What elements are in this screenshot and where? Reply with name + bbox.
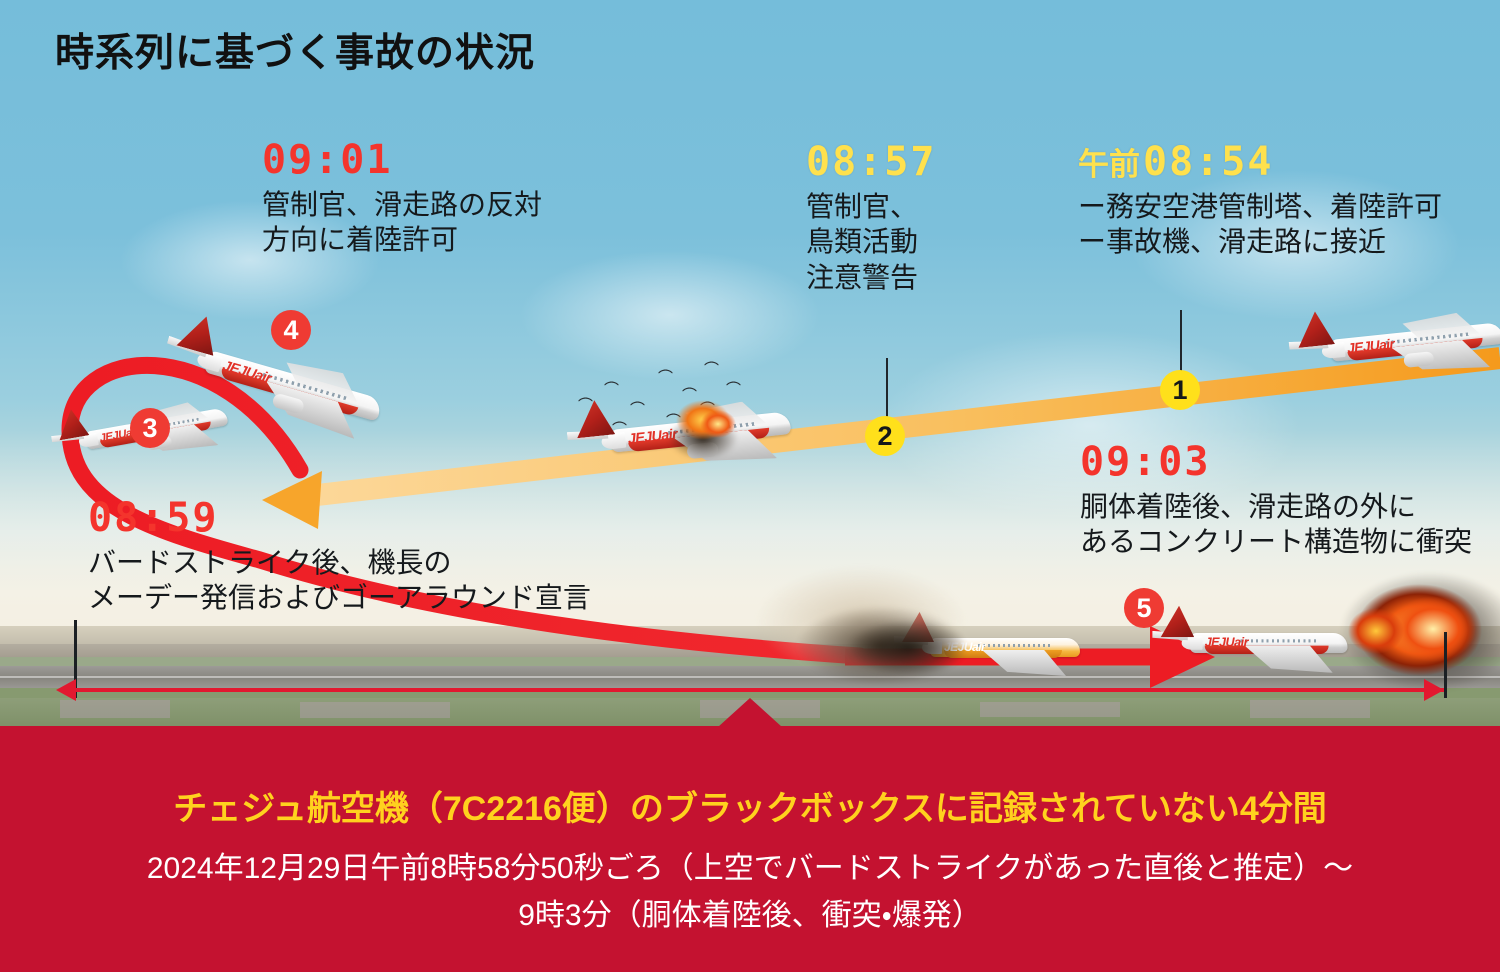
event-text-line: 管制官、 — [806, 189, 936, 224]
event-time-value-2: 08:57 — [806, 139, 936, 185]
event-text-5: 胴体着陸後、滑走路の外に あるコンクリート構造物に衝突 — [1080, 489, 1472, 560]
airline-logo: JEJUair — [1205, 635, 1248, 650]
event-time-value-3: 08:59 — [88, 495, 218, 541]
event-callout-4: 09:01 管制官、滑走路の反対 方向に着陸許可 — [262, 140, 542, 258]
event-text-line: ー務安空港管制塔、着陸許可 — [1078, 189, 1442, 224]
event-time-5: 09:03 — [1080, 442, 1472, 482]
event-text-line: メーデー発信およびゴーアラウンド宣言 — [88, 580, 591, 615]
measure-line — [74, 688, 1444, 692]
event-time-4: 09:01 — [262, 140, 542, 180]
event-time-1: 午前08:54 — [1078, 142, 1442, 182]
event-marker-1[interactable]: 1 — [1160, 370, 1200, 410]
measure-tick-right — [1444, 632, 1447, 698]
event-text-line: あるコンクリート構造物に衝突 — [1080, 524, 1472, 559]
event-text-line: 胴体着陸後、滑走路の外に — [1080, 489, 1472, 524]
infographic-root: 時系列に基づく事故の状況 JEJUair JEJUair JEJ — [0, 0, 1500, 972]
event-marker-5[interactable]: 5 — [1124, 588, 1164, 628]
event-time-prefix-1: 午前 — [1078, 147, 1140, 182]
event-time-2: 08:57 — [806, 142, 936, 182]
measure-arrowhead-left — [56, 679, 76, 701]
event-time-value-1: 08:54 — [1143, 139, 1273, 185]
banner-subtext: 2024年12月29日午前8時58分50秒ごろ（上空でバードストライクがあった直… — [0, 846, 1500, 939]
event-text-line: 鳥類活動 — [806, 224, 936, 259]
event-text-2: 管制官、 鳥類活動 注意警告 — [806, 189, 936, 295]
bird-icon: ︵ — [682, 378, 697, 393]
banner-subtext-line2: 9時3分（胴体着陸後、衝突・爆発） — [0, 893, 1500, 940]
event-time-3: 08:59 — [88, 498, 591, 538]
event-time-value-5: 09:03 — [1080, 439, 1210, 485]
bird-icon: ︵ — [658, 360, 673, 375]
fireball — [700, 410, 736, 438]
event-text-4: 管制官、滑走路の反対 方向に着陸許可 — [262, 187, 542, 258]
event-text-line: 管制官、滑走路の反対 — [262, 187, 542, 222]
event-text-line: ー事故機、滑走路に接近 — [1078, 224, 1442, 259]
event-callout-5: 09:03 胴体着陸後、滑走路の外に あるコンクリート構造物に衝突 — [1080, 442, 1472, 560]
window-row — [1240, 639, 1318, 642]
event-callout-1: 午前08:54 ー務安空港管制塔、着陸許可 ー事故機、滑走路に接近 — [1078, 142, 1442, 260]
bird-icon: ︵ — [704, 352, 719, 367]
banner-notch — [718, 698, 782, 727]
bird-icon: ︵ — [630, 392, 645, 407]
event-text-3: バードストライク後、機長の メーデー発信およびゴーアラウンド宣言 — [88, 545, 591, 616]
bird-icon: ︵ — [578, 388, 593, 403]
banner-headline: チェジュ航空機（7C2216便）のブラックボックスに記録されていない4分間 — [0, 781, 1500, 830]
window-row — [978, 644, 1052, 647]
bird-icon: ︵ — [726, 372, 741, 387]
event-marker-3[interactable]: 3 — [130, 408, 170, 448]
event-callout-2: 08:57 管制官、 鳥類活動 注意警告 — [806, 142, 936, 295]
smoke-cloud — [848, 620, 968, 676]
event-callout-3: 08:59 バードストライク後、機長の メーデー発信およびゴーアラウンド宣言 — [88, 498, 591, 616]
page-title: 時系列に基づく事故の状況 — [55, 22, 535, 78]
event-text-line: バードストライク後、機長の — [88, 545, 591, 580]
banner-subtext-line1: 2024年12月29日午前8時58分50秒ごろ（上空でバードストライクがあった直… — [0, 846, 1500, 893]
measure-arrowhead-right — [1424, 679, 1444, 701]
event-time-value-4: 09:01 — [262, 137, 392, 183]
leader-line-1 — [1180, 310, 1182, 372]
event-text-line: 注意警告 — [806, 260, 936, 295]
bird-icon: ︵ — [612, 412, 627, 427]
bird-icon: ︵ — [604, 372, 619, 387]
event-text-line: 方向に着陸許可 — [262, 222, 542, 257]
summary-banner: チェジュ航空機（7C2216便）のブラックボックスに記録されていない4分間 20… — [0, 726, 1500, 972]
event-text-1: ー務安空港管制塔、着陸許可 ー事故機、滑走路に接近 — [1078, 189, 1442, 260]
explosion-fireball — [1348, 608, 1404, 654]
leader-line-2 — [886, 358, 888, 420]
event-marker-4[interactable]: 4 — [271, 310, 311, 350]
event-marker-2[interactable]: 2 — [865, 416, 905, 456]
